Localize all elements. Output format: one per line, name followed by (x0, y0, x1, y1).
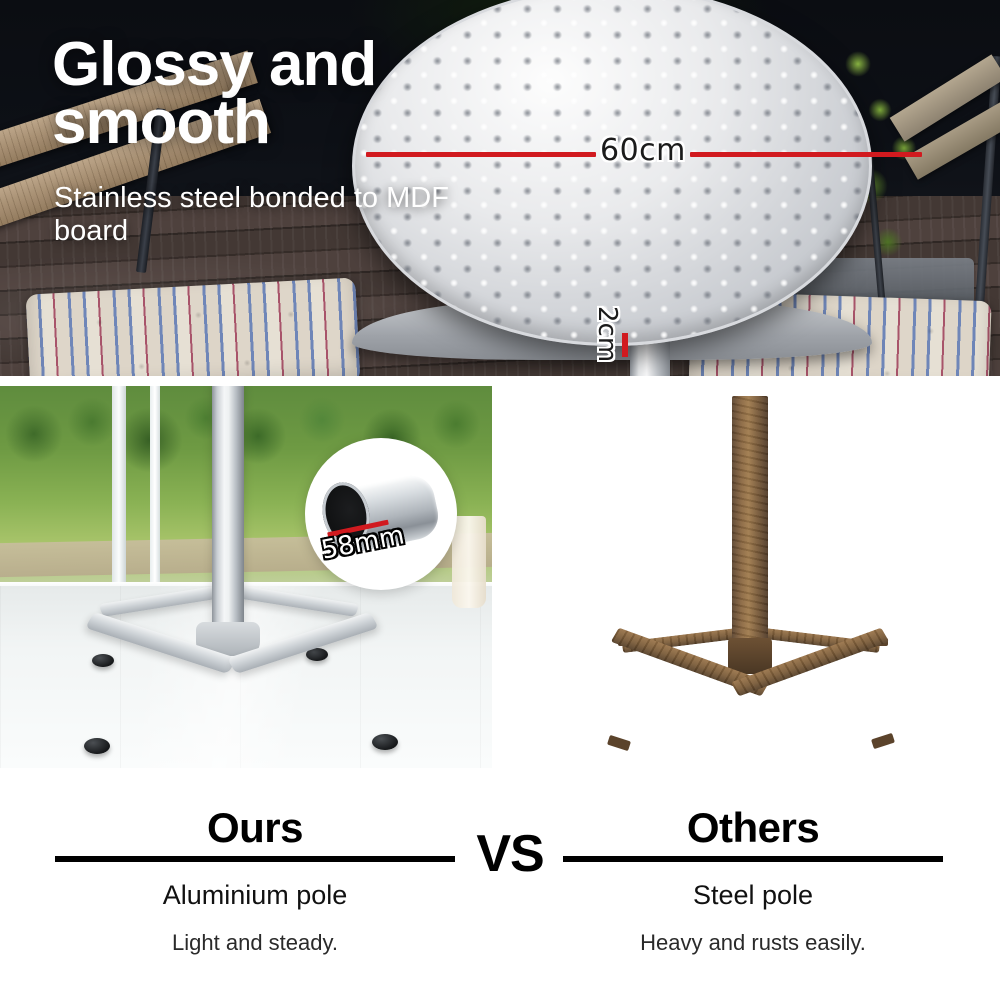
others-note: Heavy and rusts easily. (563, 930, 943, 956)
cushion-tufting (25, 277, 360, 376)
others-subtitle: Steel pole (563, 880, 943, 911)
others-title: Others (563, 804, 943, 852)
hero-subheadline: Stainless steel bonded to MDF board (54, 182, 474, 248)
diameter-line-right (690, 152, 922, 157)
base-foot (372, 734, 398, 750)
rusty-foot (607, 735, 631, 751)
ours-divider (55, 856, 455, 862)
thickness-tick (622, 333, 628, 357)
steel-base-photo (500, 386, 1000, 768)
aluminium-pole (212, 386, 244, 642)
hero-headline: Glossy and smooth (52, 36, 472, 151)
ours-title: Ours (55, 804, 455, 852)
hero-section: 60cm 2cm Glossy and smooth Stainless ste… (0, 0, 1000, 376)
base-foot (92, 654, 114, 667)
product-feature-page: 60cm 2cm Glossy and smooth Stainless ste… (0, 0, 1000, 1000)
curtain (452, 516, 486, 608)
rusty-steel-pole (732, 396, 768, 648)
pole-diameter-callout: 58mm (305, 438, 457, 590)
diameter-label: 60cm (600, 133, 686, 168)
others-divider (563, 856, 943, 862)
thickness-label: 2cm (592, 306, 622, 362)
base-foot (84, 738, 110, 754)
ours-vs-others: Ours Others VS Aluminium pole Steel pole… (0, 768, 1000, 1000)
window-frame (150, 386, 160, 592)
rusty-foot (871, 733, 895, 749)
vs-label: VS (462, 824, 558, 884)
product-comparison-photos (0, 386, 1000, 768)
diameter-line-left (366, 152, 596, 157)
window-frame (112, 386, 126, 592)
ours-note: Light and steady. (55, 930, 455, 956)
striped-cushion (25, 277, 360, 376)
ours-subtitle: Aluminium pole (55, 880, 455, 911)
floor (0, 586, 492, 768)
